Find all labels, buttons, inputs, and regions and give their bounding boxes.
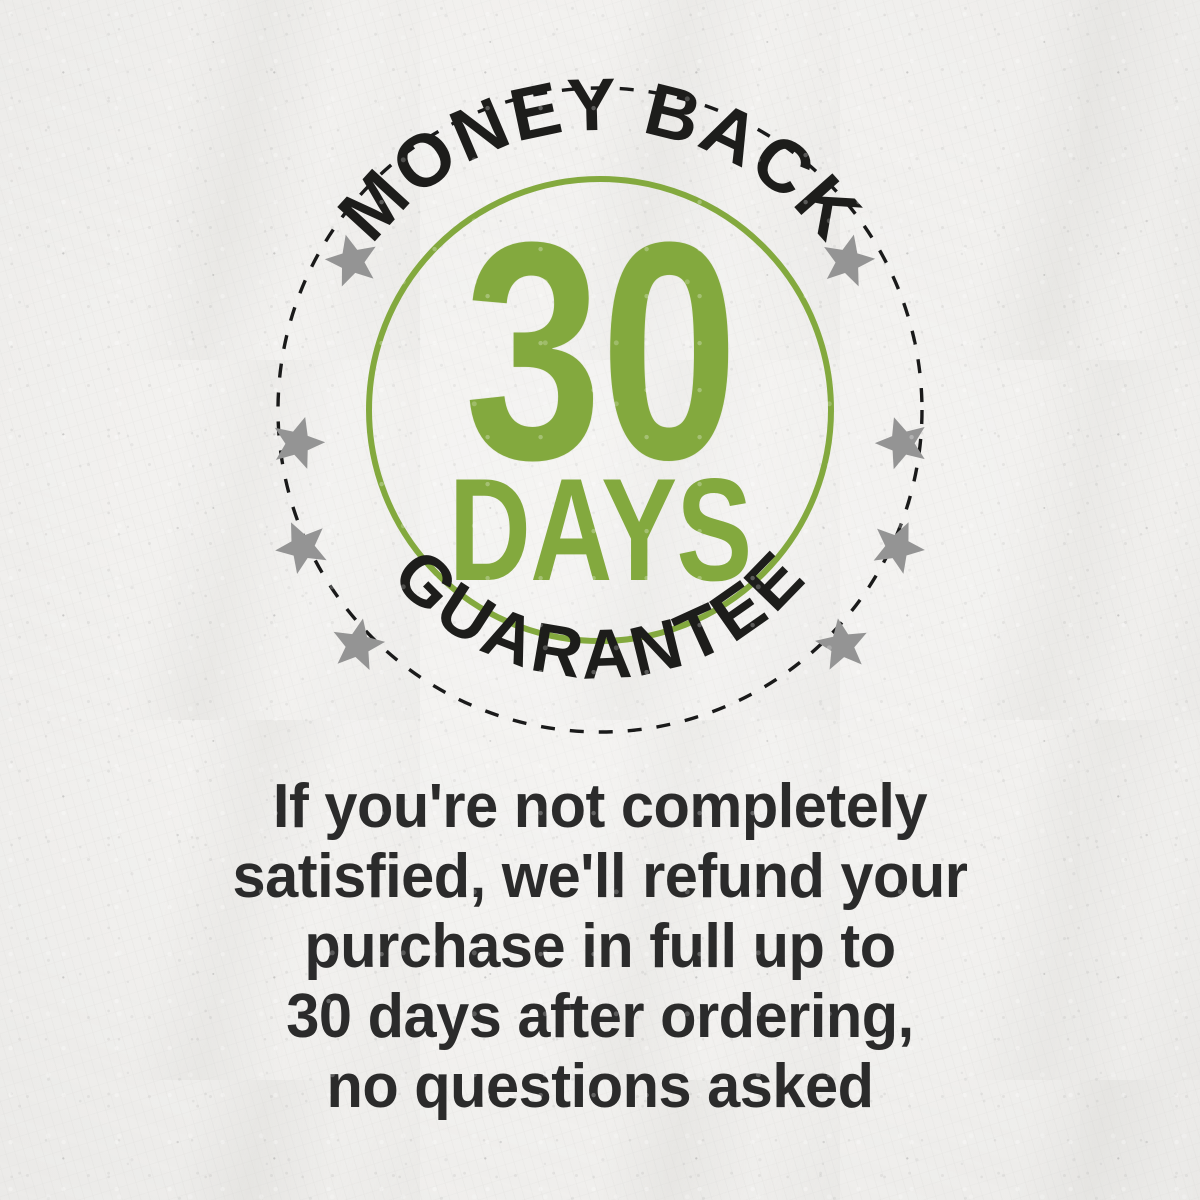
badge-arc-top-text: MONEY BACK — [322, 62, 878, 255]
star-icon — [865, 512, 933, 578]
promise-line: 30 days after ordering, — [24, 982, 1176, 1052]
star-icon — [267, 511, 335, 578]
guarantee-promise-text: If you're not completely satisfied, we'l… — [0, 772, 1200, 1122]
promise-line: If you're not completely — [24, 772, 1176, 842]
promise-line: purchase in full up to — [24, 912, 1176, 982]
promise-line: satisfied, we'll refund your — [24, 842, 1176, 912]
star-icon — [869, 409, 934, 472]
badge-arc-bottom-text: GUARANTEE — [379, 534, 821, 694]
money-back-guarantee-graphic: MONEY BACK GUARANTEE 30 DAYS If you're n… — [0, 0, 1200, 1200]
guarantee-badge: MONEY BACK GUARANTEE — [240, 50, 960, 770]
star-icon — [328, 613, 389, 671]
promise-line: no questions asked — [24, 1052, 1176, 1122]
star-cluster — [266, 228, 934, 671]
star-icon — [266, 410, 330, 472]
